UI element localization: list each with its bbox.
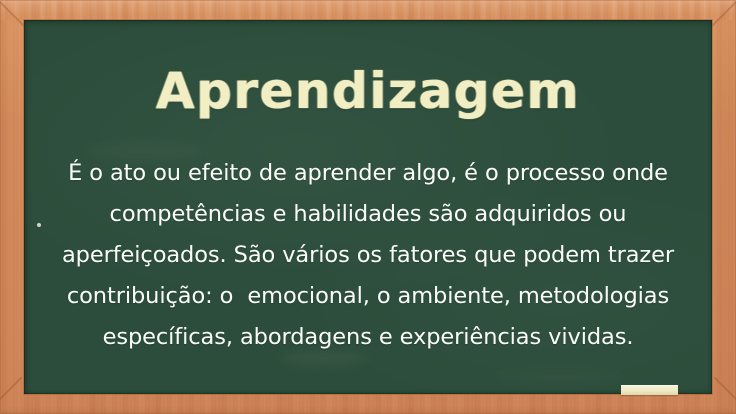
- chalk-stick: [621, 385, 678, 395]
- frame-miter-bottom-left: [0, 377, 22, 410]
- chalkboard-slide: Aprendizagem É o ato ou efeito de aprend…: [0, 0, 736, 414]
- slide-body-text: É o ato ou efeito de aprender algo, é o …: [38, 153, 698, 358]
- frame-miter-bottom-right: [714, 377, 736, 410]
- frame-top-highlight: [0, 0, 736, 20]
- chalk-smudge: [494, 370, 624, 384]
- chalkboard-surface: Aprendizagem É o ato ou efeito de aprend…: [24, 20, 712, 394]
- slide-title: Aprendizagem: [24, 66, 712, 116]
